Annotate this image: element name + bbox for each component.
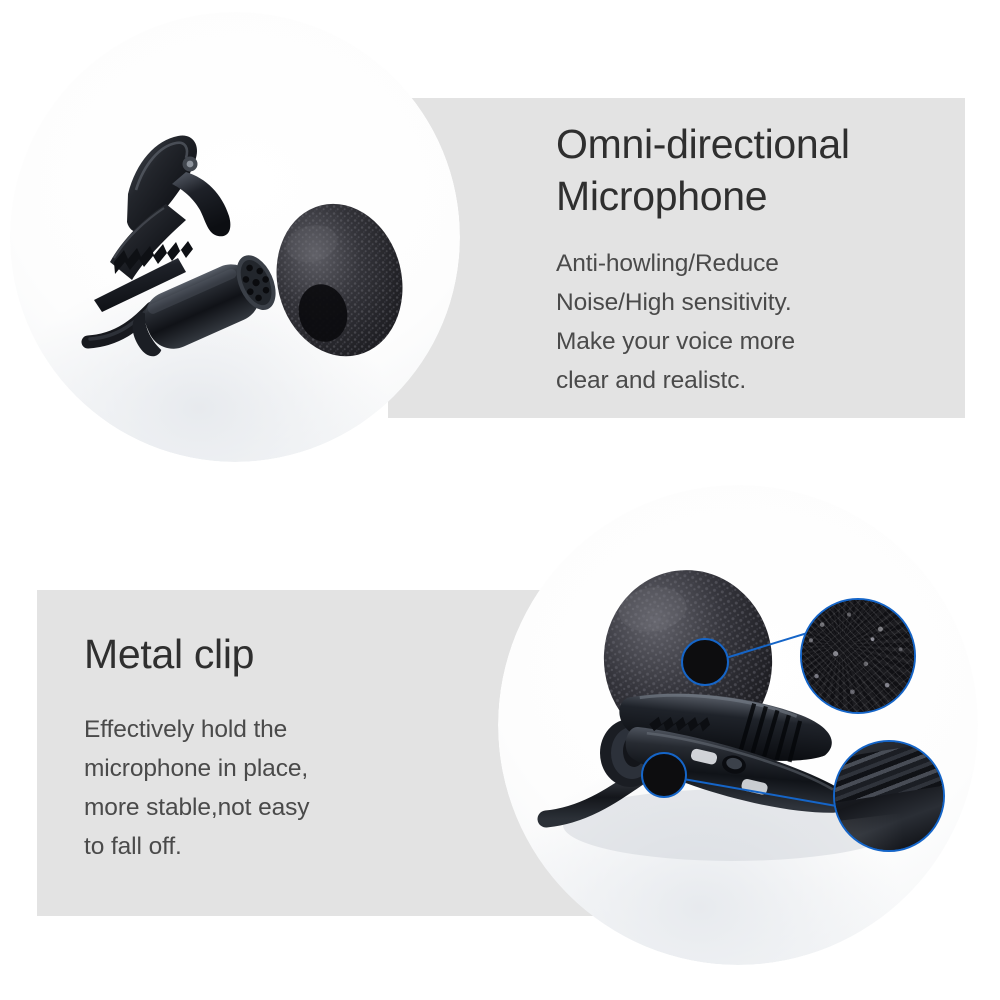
foam-macro-texture (802, 600, 914, 712)
photo-ring-accent (10, 12, 460, 462)
feature-text-metal-clip: Metal clip Effectively hold the micropho… (84, 628, 464, 866)
photo-ring-accent (498, 485, 978, 965)
product-feature-infographic: Omni-directional Microphone Anti-howling… (0, 0, 1000, 1000)
feature-text-omni-directional-microphone: Omni-directional Microphone Anti-howling… (556, 118, 956, 400)
product-photo-omni-directional-microphone (10, 12, 460, 462)
callout-dot-foam-texture (681, 638, 729, 686)
feature-heading-omni-directional-microphone: Omni-directional Microphone (556, 118, 956, 222)
feature-body-omni-directional-microphone: Anti-howling/Reduce Noise/High sensitivi… (556, 244, 956, 400)
clip-teeth-macro-texture (833, 740, 945, 852)
feature-heading-metal-clip: Metal clip (84, 628, 464, 680)
callout-dot-clip-teeth (641, 752, 687, 798)
callout-bubble-clip-teeth (833, 740, 945, 852)
product-photo-metal-clip (498, 485, 978, 965)
callout-bubble-foam-texture (800, 598, 916, 714)
feature-body-metal-clip: Effectively hold the microphone in place… (84, 710, 464, 866)
